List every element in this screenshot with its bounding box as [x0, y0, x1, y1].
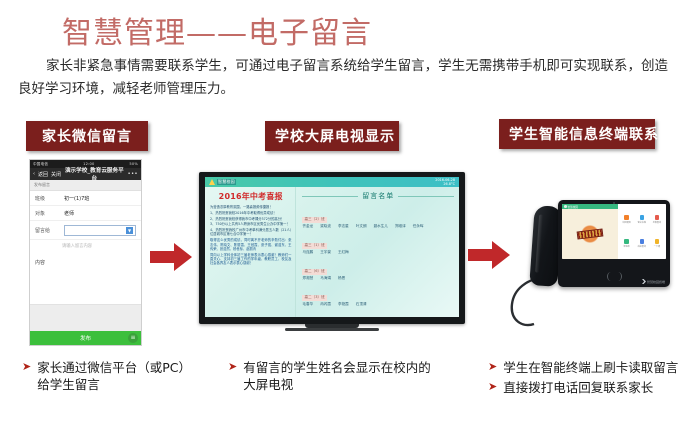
app-icon — [655, 215, 660, 220]
page-title: 智慧管理——电子留言 — [62, 8, 372, 52]
class-group: 高二（6）班郑湘慧马海娟杨恩 — [302, 257, 454, 281]
status-dot-icon — [564, 205, 567, 208]
terminal-brand: 智慧校园终端 — [642, 279, 665, 284]
message-list-heading: 留言名单 — [302, 191, 454, 201]
student-name: 齐金龙 — [302, 224, 313, 229]
arrow-right-icon-2 — [468, 241, 510, 269]
terminal-app-item[interactable]: 留言信箱 — [635, 208, 649, 231]
tv-news-body: 为营造浓厚教育氛围，一路喜报频传捷报！1、热烈祝贺我校2016年中考取得优异成绩… — [210, 205, 291, 266]
terminal-app-item[interactable]: 考勤查询 — [650, 208, 664, 231]
tv-news-paragraph: 同向以上学科全体初三届老师表示衷心感谢！教师们一直关心、支持初三届工作的学年级、… — [210, 253, 291, 266]
bullet-list-school: ➤有留言的学生姓名会显示在校内的大屏电视 — [228, 359, 438, 396]
student-name: 聂水生儿 — [374, 224, 388, 229]
section-banner-student: 学生智能信息终端联系 — [499, 119, 655, 149]
field-row-class: 班级 初一(1)7班 — [30, 191, 141, 206]
app-label: 考勤查询 — [653, 221, 661, 224]
section-banner-parent: 家长微信留言 — [26, 121, 148, 151]
class-group: 高三（2）班齐金龙梁晓波李志星叶文朗聂水生儿郑维译任永晖 — [302, 205, 454, 229]
nav-close-label[interactable]: 关闭 — [51, 171, 61, 178]
bullet-item: ➤家长通过微信平台（或PC）给学生留言 — [22, 359, 202, 393]
student-name-row: 齐金龙梁晓波李志星叶文朗聂水生儿郑维译任永晖 — [302, 224, 454, 229]
class-group: 高一（4）班刘志善马胜胜张嘉晔博旭涛范丽敏 — [302, 309, 454, 317]
brand-text: 智慧校园终端 — [647, 280, 665, 284]
student-name: 毛春华 — [302, 302, 313, 307]
chevron-down-icon[interactable]: ▼ — [126, 227, 133, 234]
student-name: 王宇豪 — [320, 250, 331, 255]
field-row-recipient[interactable]: 留言给 ▼ — [30, 221, 141, 240]
publish-button[interactable]: 发布 — [30, 331, 141, 345]
student-name: 李艳霞 — [338, 302, 349, 307]
class-name-badge: 高三（2）班 — [302, 217, 326, 223]
back-icon[interactable]: ‹ — [33, 171, 35, 177]
tv-display: 智慧校园 2016-06-28 26.8°C 2016年中考喜报 为营造浓厚教育… — [199, 172, 465, 334]
field-row-target: 对象 老师 — [30, 206, 141, 221]
slide-root: 智慧管理——电子留言 家长非紧急事情需要联系学生，可通过电子留言系统给学生留言，… — [0, 0, 686, 437]
brand-logo-icon — [642, 279, 646, 284]
terminal-app-item[interactable]: 一卡通 — [650, 232, 664, 255]
tv-top-bar: 智慧校园 2016-06-28 26.8°C — [205, 177, 459, 187]
tv-news-paragraph: 2、热烈祝贺我校获得我市中考裸分372分的高分！ — [210, 217, 291, 221]
app-icon — [640, 215, 645, 220]
phone-battery: 50% — [129, 162, 138, 166]
student-name: 叶文朗 — [356, 224, 367, 229]
terminal-body: 智慧校园 校园通知留言信箱考勤查询课程表成绩查询一卡通 智慧校园终端 — [558, 200, 670, 287]
tv-message-panel: 留言名单 高三（2）班齐金龙梁晓波李志星叶文朗聂水生儿郑维译任永晖高三（1）班马… — [296, 187, 459, 317]
message-list-title: 留言名单 — [362, 191, 394, 201]
student-name-row: 毛春华冉闪霞李艳霞石顶清 — [302, 302, 454, 307]
phone-screenshot: 中国电信 12:00 50% ‹ 返回 关闭 演示学校_教育云服务平台 ••• … — [29, 159, 142, 346]
arrow-right-icon-1 — [150, 243, 192, 271]
app-icon — [624, 239, 629, 244]
terminal-top-bar: 智慧校园 — [562, 204, 618, 209]
tv-logo: 智慧校园 — [209, 179, 236, 185]
bullet-text: 家长通过微信平台（或PC）给学生留言 — [37, 359, 202, 393]
student-name: 冉闪霞 — [320, 302, 331, 307]
app-icon — [655, 239, 660, 244]
bullet-marker-icon: ➤ — [228, 359, 237, 375]
student-name: 梁晓波 — [320, 224, 331, 229]
bullet-text: 有留言的学生姓名会显示在校内的大屏电视 — [243, 359, 438, 393]
menu-fab-icon[interactable]: ≡ — [128, 333, 138, 343]
field-label-target: 对象 — [35, 210, 57, 217]
field-value-class: 初一(1)7班 — [64, 195, 89, 202]
tv-news-paragraph: 取得这么优秀的成绩，同时离不开老师的辛勤付出：张志伟、陈晓文、陈丽霞、王冠霞、张… — [210, 238, 291, 251]
rfid-wave-right-icon — [616, 272, 622, 281]
student-name: 石顶清 — [356, 302, 367, 307]
student-name-row: 郑湘慧马海娟杨恩 — [302, 276, 454, 281]
class-group: 高二（3）班毛春华冉闪霞李艳霞石顶清 — [302, 283, 454, 307]
field-value-target: 老师 — [64, 210, 74, 217]
bullet-marker-icon: ➤ — [488, 379, 497, 395]
terminal-app-item[interactable]: 课程表 — [620, 232, 634, 255]
terminal-banner-area: 智慧校园 — [562, 204, 618, 259]
field-label-recipient: 留言给 — [35, 227, 57, 234]
field-label-class: 班级 — [35, 195, 57, 202]
tv-weather: 26.8°C — [443, 182, 455, 186]
bullet-item: ➤学生在智能终端上刷卡读取留言 — [488, 359, 680, 376]
bullet-item: ➤直接拨打电话回复联系家长 — [488, 379, 680, 396]
class-name-badge: 高二（3）班 — [302, 295, 326, 301]
terminal-screen-title: 智慧校园 — [568, 205, 578, 209]
tv-news-paragraph: 4、热烈祝贺我校广州市中考单科满分居五人数（21人）位居城市区第七合中学第一！ — [210, 228, 291, 237]
banner-strip-icon — [576, 228, 603, 239]
bullet-list-parent: ➤家长通过微信平台（或PC）给学生留言 — [22, 359, 202, 396]
phone-carrier: 中国电信 — [33, 162, 48, 167]
message-placeholder-text: 请输入留言内容 — [30, 240, 141, 252]
tv-bezel: 智慧校园 2016-06-28 26.8°C 2016年中考喜报 为营造浓厚教育… — [199, 172, 465, 324]
app-label: 校园通知 — [622, 221, 630, 224]
terminal-app-grid: 校园通知留言信箱考勤查询课程表成绩查询一卡通 — [618, 204, 666, 259]
rfid-icon[interactable] — [607, 272, 622, 281]
student-name: 李志星 — [338, 224, 349, 229]
tv-news-title: 2016年中考喜报 — [210, 191, 291, 202]
rule-left — [302, 196, 358, 197]
class-name-badge: 高二（6）班 — [302, 269, 326, 275]
terminal-app-item[interactable]: 校园通知 — [620, 208, 634, 231]
app-icon — [640, 239, 645, 244]
tv-date: 2016-06-28 — [435, 178, 455, 182]
tv-news-paragraph: 3、750分以上共有5人跻身市区优秀生公办中学第一！ — [210, 222, 291, 226]
app-label: 一卡通 — [654, 245, 660, 248]
student-name: 郑湘慧 — [302, 276, 313, 281]
content-label: 内容 — [30, 252, 141, 270]
bullet-marker-icon: ➤ — [488, 359, 497, 375]
tv-logo-text: 智慧校园 — [217, 179, 236, 185]
bullet-list-student: ➤学生在智能终端上刷卡读取留言➤直接拨打电话回复联系家长 — [488, 359, 680, 399]
class-list: 高三（2）班齐金龙梁晓波李志星叶文朗聂水生儿郑维译任永晖高三（1）班马连鹏王宇豪… — [302, 205, 454, 317]
tv-news-panel: 2016年中考喜报 为营造浓厚教育氛围，一路喜报频传捷报！1、热烈祝贺我校201… — [205, 187, 296, 317]
student-name: 郑维译 — [395, 224, 406, 229]
recipient-select[interactable]: ▼ — [64, 225, 136, 236]
school-logo-icon — [209, 179, 215, 185]
tv-body: 2016年中考喜报 为营造浓厚教育氛围，一路喜报频传捷报！1、热烈祝贺我校201… — [205, 187, 459, 317]
student-name: 马连鹏 — [302, 250, 313, 255]
student-name: 杨恩 — [338, 276, 345, 281]
welcome-emblem — [577, 224, 603, 244]
phone-nav-bar: ‹ 返回 关闭 演示学校_教育云服务平台 ••• — [30, 168, 141, 180]
student-name: 王红梅 — [338, 250, 349, 255]
bullet-text: 学生在智能终端上刷卡读取留言 — [503, 359, 680, 376]
student-name-row: 马连鹏王宇豪王红梅 — [302, 250, 454, 255]
tv-screen: 智慧校园 2016-06-28 26.8°C 2016年中考喜报 为营造浓厚教育… — [205, 177, 459, 317]
class-name-badge: 高三（1）班 — [302, 243, 326, 249]
tv-clock-widget: 2016-06-28 26.8°C — [435, 178, 455, 187]
app-icon — [624, 215, 629, 220]
tv-news-paragraph: 1、热烈祝贺我校2016年中考取得优异成绩！ — [210, 211, 291, 215]
rfid-wave-left-icon — [607, 272, 613, 281]
bullet-text: 直接拨打电话回复联系家长 — [503, 379, 680, 396]
section-banner-school: 学校大屏电视显示 — [265, 121, 399, 151]
app-label: 留言信箱 — [638, 221, 646, 224]
terminal-screen: 智慧校园 校园通知留言信箱考勤查询课程表成绩查询一卡通 — [562, 204, 666, 259]
student-name: 马海娟 — [320, 276, 331, 281]
bullet-item: ➤有留言的学生姓名会显示在校内的大屏电视 — [228, 359, 438, 393]
class-group: 高三（1）班马连鹏王宇豪王红梅 — [302, 231, 454, 255]
nav-back-label[interactable]: 返回 — [38, 171, 48, 178]
tv-base — [285, 328, 379, 331]
rule-right — [398, 196, 454, 197]
tv-news-paragraph: 为营造浓厚教育氛围，一路喜报频传捷报！ — [210, 205, 291, 209]
terminal-app-item[interactable]: 成绩查询 — [635, 232, 649, 255]
more-icon[interactable]: ••• — [128, 171, 138, 177]
nav-title: 演示学校_教育云服务平台 — [64, 166, 125, 182]
app-label: 课程表 — [624, 245, 630, 248]
smart-terminal-device: 智慧校园 校园通知留言信箱考勤查询课程表成绩查询一卡通 智慧校园终端 — [510, 200, 680, 345]
student-name: 任永晖 — [413, 224, 424, 229]
app-label: 成绩查询 — [638, 245, 646, 248]
intro-paragraph: 家长非紧急事情需要联系学生，可通过电子留言系统给学生留言，学生无需携带手机即可实… — [18, 55, 668, 101]
bullet-marker-icon: ➤ — [22, 359, 31, 375]
content-textarea[interactable] — [30, 270, 141, 304]
